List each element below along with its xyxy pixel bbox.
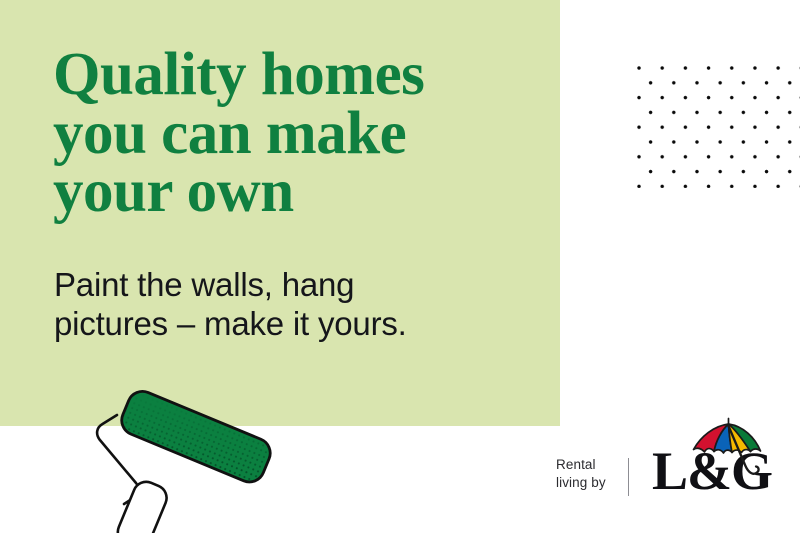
brand-logo-lockup: Rental living by L&G bbox=[556, 418, 772, 504]
dot-grid-pattern-icon bbox=[637, 66, 800, 188]
poster-canvas: Quality homes you can make your own Pain… bbox=[0, 0, 800, 533]
paint-roller-icon bbox=[78, 382, 278, 533]
logo-divider bbox=[628, 458, 629, 496]
page-title: Quality homes you can make your own bbox=[53, 46, 543, 222]
logo-eyebrow-line-2: living by bbox=[556, 474, 606, 492]
subtitle-line-1: Paint the walls, hang bbox=[54, 266, 524, 305]
umbrella-icon bbox=[684, 417, 772, 497]
headline-line-1: Quality homes bbox=[53, 46, 543, 105]
logo-eyebrow-text: Rental living by bbox=[556, 456, 606, 492]
headline-line-3: your own bbox=[53, 163, 543, 222]
headline-line-2: you can make bbox=[53, 105, 543, 164]
logo-eyebrow-line-1: Rental bbox=[556, 456, 606, 474]
subtitle: Paint the walls, hang pictures – make it… bbox=[54, 266, 524, 343]
subtitle-line-2: pictures – make it yours. bbox=[54, 305, 524, 344]
